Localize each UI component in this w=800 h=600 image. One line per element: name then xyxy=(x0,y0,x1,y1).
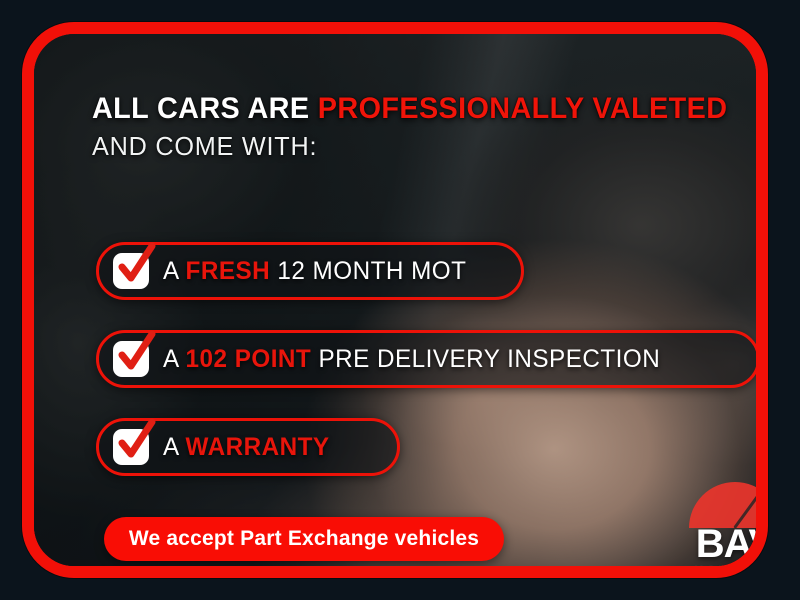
bav-logo[interactable]: BAV MOTORCO xyxy=(674,482,768,578)
bav-logo-subtext: MOTORCO xyxy=(674,565,768,576)
feature-1-suffix: 12 MONTH MOT xyxy=(270,257,466,285)
speedometer-gauge-icon xyxy=(689,482,768,528)
bav-wordmark: BAV xyxy=(674,524,768,564)
feature-3-prefix: A xyxy=(163,433,186,461)
headline-red-text: PROFESSIONALLY VALETED xyxy=(318,92,728,125)
feature-2-highlight: 102 POINT xyxy=(186,345,312,373)
poster-content: ALL CARS ARE PROFESSIONALLY VALETED AND … xyxy=(34,34,756,566)
headline-line-1: ALL CARS ARE PROFESSIONALLY VALETED xyxy=(92,92,726,126)
feature-pill-inspection[interactable]: A 102 POINT PRE DELIVERY INSPECTION xyxy=(96,330,760,388)
feature-pill-mot[interactable]: A FRESH 12 MONTH MOT xyxy=(96,242,524,300)
headline-white-text: ALL CARS ARE xyxy=(92,92,318,125)
feature-1-highlight: FRESH xyxy=(186,257,271,285)
feature-pill-mot-label: A FRESH 12 MONTH MOT xyxy=(163,257,466,286)
checkmark-icon xyxy=(113,429,149,465)
part-exchange-button-label: We accept Part Exchange vehicles xyxy=(129,527,479,551)
feature-2-suffix: PRE DELIVERY INSPECTION xyxy=(311,345,660,373)
bav-sub-left: MOTOR xyxy=(694,564,752,576)
poster-canvas: ALL CARS ARE PROFESSIONALLY VALETED AND … xyxy=(0,0,800,600)
bav-sub-right: CO xyxy=(752,564,768,576)
feature-2-prefix: A xyxy=(163,345,186,373)
headline-line-2: AND COME WITH: xyxy=(92,131,732,162)
feature-pill-warranty[interactable]: A WARRANTY xyxy=(96,418,400,476)
feature-3-highlight: WARRANTY xyxy=(186,433,330,461)
feature-1-prefix: A xyxy=(163,257,186,285)
feature-pill-warranty-label: A WARRANTY xyxy=(163,433,330,462)
checkmark-icon xyxy=(113,253,149,289)
checkmark-icon xyxy=(113,341,149,377)
headline-block: ALL CARS ARE PROFESSIONALLY VALETED AND … xyxy=(92,92,752,162)
red-border-frame: ALL CARS ARE PROFESSIONALLY VALETED AND … xyxy=(22,22,768,578)
feature-pill-inspection-label: A 102 POINT PRE DELIVERY INSPECTION xyxy=(163,345,660,374)
part-exchange-button[interactable]: We accept Part Exchange vehicles xyxy=(104,517,504,561)
